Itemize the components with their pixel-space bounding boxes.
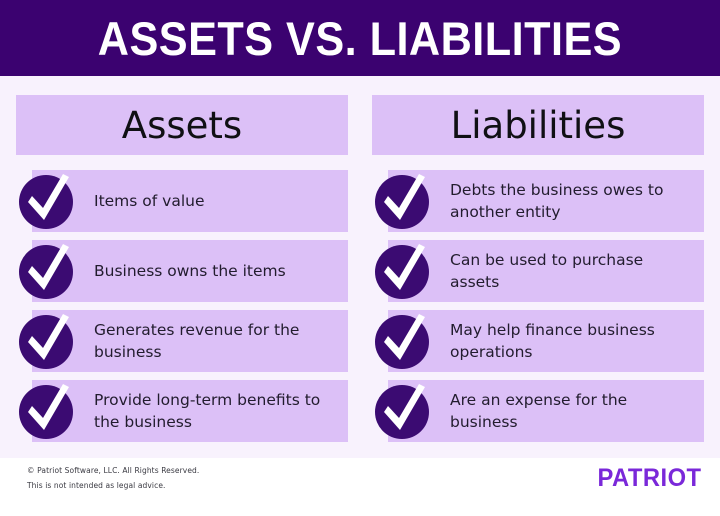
column-assets: Assets Items of value	[16, 76, 348, 450]
list-item-label: Items of value	[94, 170, 340, 232]
list-item-label: May help finance business operations	[450, 310, 696, 372]
list-item-label: Provide long-term benefits to the busine…	[94, 380, 340, 442]
list-item: Business owns the items	[16, 240, 348, 302]
check-circle-icon	[16, 170, 78, 232]
column-header-assets: Assets	[16, 95, 348, 155]
title-band: ASSETS VS. LIABILITIES	[0, 0, 720, 76]
list-item: Provide long-term benefits to the busine…	[16, 380, 348, 442]
list-item: Items of value	[16, 170, 348, 232]
check-circle-icon	[372, 240, 434, 302]
comparison-board: Assets Items of value	[0, 76, 720, 458]
check-circle-icon	[372, 380, 434, 442]
infographic-canvas: ASSETS VS. LIABILITIES Assets Items of v…	[0, 0, 720, 516]
legal-text: © Patriot Software, LLC. All Rights Rese…	[27, 464, 199, 493]
list-item-label: Business owns the items	[94, 240, 340, 302]
check-circle-icon	[372, 170, 434, 232]
page-title: ASSETS VS. LIABILITIES	[98, 15, 622, 62]
list-item: May help finance business operations	[372, 310, 704, 372]
list-item: Debts the business owes to another entit…	[372, 170, 704, 232]
check-circle-icon	[16, 380, 78, 442]
list-item: Generates revenue for the business	[16, 310, 348, 372]
copyright-line: © Patriot Software, LLC. All Rights Rese…	[27, 464, 199, 479]
column-liabilities: Liabilities Debts the business owes to a…	[372, 76, 704, 450]
footer: © Patriot Software, LLC. All Rights Rese…	[0, 458, 720, 516]
check-circle-icon	[16, 310, 78, 372]
list-item: Are an expense for the business	[372, 380, 704, 442]
list-item-label: Can be used to purchase assets	[450, 240, 696, 302]
list-item-label: Are an expense for the business	[450, 380, 696, 442]
column-heading-label: Liabilities	[451, 107, 626, 144]
list-item: Can be used to purchase assets	[372, 240, 704, 302]
column-header-liabilities: Liabilities	[372, 95, 704, 155]
patriot-logo: PATRIOT	[598, 466, 702, 491]
list-item-label: Debts the business owes to another entit…	[450, 170, 696, 232]
disclaimer-line: This is not intended as legal advice.	[27, 479, 199, 494]
check-circle-icon	[16, 240, 78, 302]
list-item-label: Generates revenue for the business	[94, 310, 340, 372]
check-circle-icon	[372, 310, 434, 372]
column-heading-label: Assets	[122, 107, 242, 144]
